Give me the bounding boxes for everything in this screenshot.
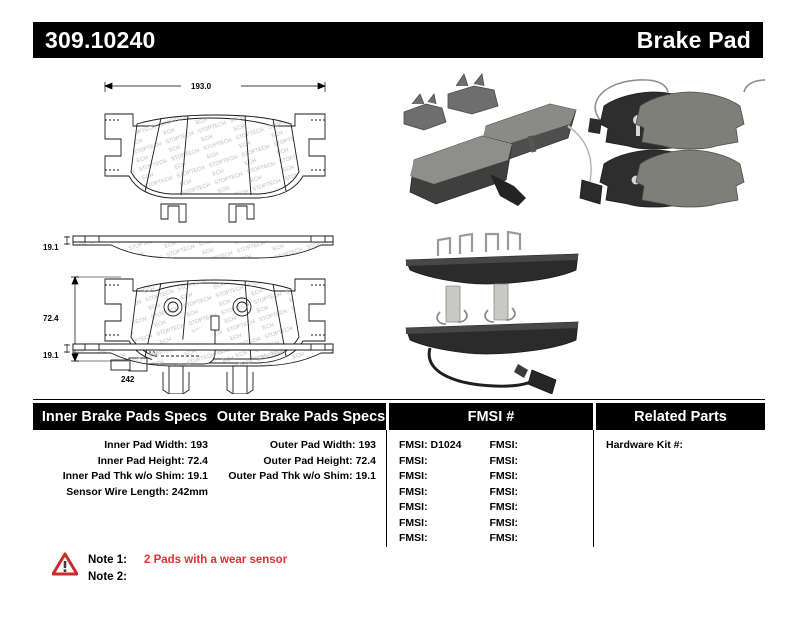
fmsi-row: FMSI: [387, 485, 461, 501]
dimension-height-label: 72.4 [43, 314, 59, 323]
dimension-width-label: 193.0 [191, 82, 212, 91]
photo-angled-pads-with-hardware [404, 74, 602, 206]
fmsi-row: FMSI: [461, 438, 518, 454]
product-photos [390, 64, 765, 394]
inner-specs-column: Inner Pad Width: 193 Inner Pad Height: 7… [33, 430, 216, 547]
table-header-row: Inner Brake Pads Specs Outer Brake Pads … [33, 403, 765, 430]
photos-svg [390, 64, 765, 394]
drawing-inner-pad-edge-wrap: 19.1 [33, 330, 383, 400]
table-body: Inner Pad Width: 193 Inner Pad Height: 7… [33, 430, 765, 547]
fmsi-row: FMSI: [461, 500, 518, 516]
fmsi-row: FMSI: [387, 516, 461, 532]
product-type: Brake Pad [637, 27, 751, 54]
column-header-fmsi: FMSI # [389, 403, 593, 430]
dimension-thickness-top-label: 19.1 [43, 243, 59, 252]
spec-sheet-page: 309.10240 Brake Pad STOPTECH STOPTECH [0, 0, 800, 619]
outer-specs-column: Outer Pad Width: 193 Outer Pad Height: 7… [216, 430, 386, 547]
drawing-inner-pad-edge: 19.1 [33, 330, 383, 400]
column-header-outer-specs: Outer Brake Pads Specs [216, 403, 386, 430]
spec-table: Inner Brake Pads Specs Outer Brake Pads … [33, 399, 765, 547]
part-number: 309.10240 [45, 27, 156, 54]
note-2-row: Note 2: [88, 569, 287, 586]
fmsi-subcolumn-left: FMSI: D1024 FMSI: FMSI: FMSI: FMSI: FMSI… [387, 438, 461, 547]
fmsi-row: FMSI: [387, 454, 461, 470]
fmsi-row: FMSI: D1024 [387, 438, 461, 454]
outer-spec-row: Outer Pad Height: 72.4 [216, 454, 376, 470]
table-top-rule [33, 399, 765, 400]
outer-spec-row: Outer Pad Width: 193 [216, 438, 376, 454]
warning-triangle-icon [52, 552, 78, 576]
drawing-retention-clips-top [161, 204, 254, 222]
related-parts-column: Hardware Kit #: [593, 430, 765, 547]
drawing-outer-pad-edge [73, 236, 333, 258]
note-1-value: 2 Pads with a wear sensor [144, 552, 287, 569]
fmsi-row: FMSI: [461, 454, 518, 470]
fmsi-row: FMSI: [461, 516, 518, 532]
dimension-thickness-bottom-label: 19.1 [43, 351, 59, 360]
inner-spec-row: Inner Pad Thk w/o Shim: 19.1 [33, 469, 208, 485]
note-2-label: Note 2: [88, 569, 136, 586]
note-1-row: Note 1: 2 Pads with a wear sensor [88, 552, 287, 569]
inner-spec-row: Sensor Wire Length: 242mm [33, 485, 208, 501]
column-header-inner-specs: Inner Brake Pads Specs [33, 403, 216, 430]
fmsi-column: FMSI: D1024 FMSI: FMSI: FMSI: FMSI: FMSI… [386, 430, 593, 547]
note-rows: Note 1: 2 Pads with a wear sensor Note 2… [88, 552, 287, 586]
photo-edge-pads-with-connector [406, 232, 578, 394]
fmsi-row: FMSI: [387, 500, 461, 516]
fmsi-row: FMSI: [461, 531, 518, 547]
dimension-thickness-top [64, 236, 70, 245]
hardware-kit-row: Hardware Kit #: [606, 438, 765, 454]
fmsi-row: FMSI: [461, 485, 518, 501]
fmsi-row: FMSI: [387, 469, 461, 485]
header-bar: 309.10240 Brake Pad [33, 22, 763, 58]
fmsi-row: FMSI: [387, 531, 461, 547]
column-header-related-parts: Related Parts [596, 403, 765, 430]
drawing-outer-pad-face [105, 114, 325, 198]
inner-spec-row: Inner Pad Width: 193 [33, 438, 208, 454]
fmsi-row: FMSI: [461, 469, 518, 485]
fmsi-subcolumn-right: FMSI: FMSI: FMSI: FMSI: FMSI: FMSI: FMSI… [461, 438, 518, 547]
note-1-label: Note 1: [88, 552, 136, 569]
outer-spec-row: Outer Pad Thk w/o Shim: 19.1 [216, 469, 376, 485]
notes-section: Note 1: 2 Pads with a wear sensor Note 2… [52, 552, 287, 586]
photo-four-pads-grid [588, 80, 765, 207]
inner-spec-row: Inner Pad Height: 72.4 [33, 454, 208, 470]
